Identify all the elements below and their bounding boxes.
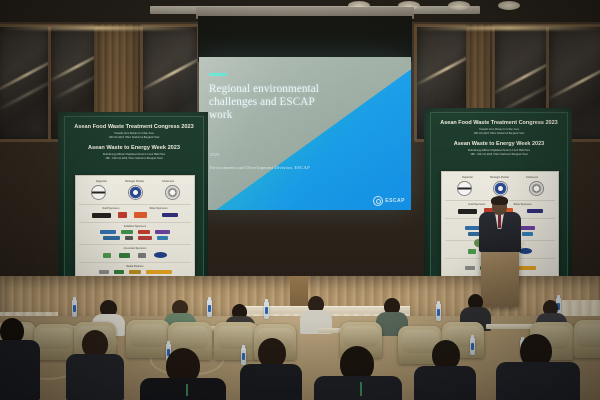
strategic-partner-logo [493, 181, 508, 196]
water-bottle [72, 300, 77, 317]
attendee-body [496, 362, 580, 400]
escap-logo-text: ESCAP [385, 198, 405, 204]
poster-caption: Gold Sponsors [102, 207, 119, 210]
wall-glass-panel [0, 24, 52, 142]
poster-caption: Associate Sponsors [124, 247, 147, 250]
poster-caption: Silver Sponsors [149, 207, 167, 210]
exhibitor-logo [100, 230, 116, 234]
attendee-body [66, 354, 124, 400]
exhibitor-logo [138, 230, 150, 234]
slide-title: Regional environmental challenges and ES… [209, 83, 339, 123]
exhibitor-logo [138, 236, 152, 240]
poster-caption: Silver Sponsors [513, 203, 531, 206]
banner-date-secondary: 18th - 19th Oct,2023, Hilton Sukhumvit B… [431, 153, 567, 156]
organizer-logo [91, 185, 106, 200]
projection-screen: Regional environmental challenges and ES… [199, 57, 411, 210]
poster-caption: Endorsers [526, 176, 538, 179]
exhibitor-logo [121, 230, 133, 234]
poster-caption: Organizer [96, 180, 107, 183]
exhibitor-logo [155, 230, 170, 234]
attendee-body [0, 340, 40, 400]
chair [126, 320, 170, 358]
cove-light [0, 26, 196, 30]
water-bottle [241, 348, 246, 365]
banner-heading-secondary: Asean Waste to Energy Week 2023 [65, 145, 203, 151]
chair [574, 320, 600, 358]
slide-year: 2023 [210, 152, 220, 157]
exhibitor-logo [103, 236, 120, 240]
poster-divider [79, 222, 191, 223]
banner-heading-secondary: Asean Waste to Energy Week 2023 [431, 141, 567, 147]
sponsor-logo [118, 212, 127, 218]
banner-subtitle-primary: Towards Zero Waste for Urban Area [65, 132, 203, 135]
banner-heading-primary: Asean Food Waste Treatment Congress 2023 [431, 120, 567, 126]
attendee-body [414, 366, 476, 400]
poster-caption: Strategic Partner [125, 180, 144, 183]
banner-date-primary: 18th Oct,2023, Hilton Sukhumvit Bangkok … [431, 132, 567, 135]
associate-logo [103, 253, 111, 258]
banner-date-primary: 18th Oct,2023, Hilton Sukhumvit Bangkok … [65, 136, 203, 139]
chair [214, 322, 258, 360]
sponsor-logo [92, 213, 111, 218]
banner-subtitle-primary: Towards Zero Waste for Urban Area [431, 128, 567, 131]
podium [481, 245, 519, 307]
slide-accent-dash [209, 73, 227, 76]
poster-caption: Exhibitor Sponsors [124, 225, 146, 228]
attendee-body [240, 364, 302, 400]
sponsor-logo [134, 212, 147, 218]
banner-date-secondary: 18th - 19th Oct,2023, Hilton Sukhumvit B… [65, 157, 203, 160]
media-partner-logo [129, 270, 141, 274]
strategic-partner-logo [128, 185, 143, 200]
sponsor-logo [458, 209, 477, 214]
water-bottle [436, 304, 441, 321]
attendee-desk [486, 324, 534, 329]
organizer-logo [457, 181, 472, 196]
media-partner-logo [146, 270, 172, 274]
poster-caption: Organizer [462, 176, 473, 179]
lanyard [360, 382, 362, 396]
exhibitor-logo [125, 236, 133, 240]
water-bottle [470, 338, 475, 355]
cove-light [414, 26, 600, 30]
escap-logo: ESCAP [373, 196, 405, 206]
exhibitor-logo [157, 236, 168, 240]
endorser-logo [165, 185, 180, 200]
media-partner-logo [99, 270, 109, 274]
attendee-body [140, 378, 226, 400]
speaker-tie [498, 215, 501, 228]
attendee-body [314, 376, 402, 400]
exhibitor-logo [520, 226, 535, 230]
poster-caption: Gold Sponsors [468, 203, 485, 206]
poster-caption: Endorsers [162, 180, 174, 183]
ceiling-light [498, 1, 520, 10]
sponsor-logo [162, 213, 178, 217]
poster-divider [79, 244, 191, 245]
associate-logo [138, 253, 146, 258]
media-partner-logo [114, 270, 124, 274]
banner-heading-primary: Asean Food Waste Treatment Congress 2023 [65, 124, 203, 130]
slide-department: Environment and Development Division, ES… [210, 165, 310, 170]
poster-caption: Media Partners [126, 265, 143, 268]
associate-logo [119, 253, 130, 258]
endorser-logo [529, 181, 544, 196]
media-partner-logo [465, 266, 475, 270]
escap-emblem-icon [373, 196, 383, 206]
associate-logo [154, 252, 167, 258]
conference-hall-photo: Regional environmental challenges and ES… [0, 0, 600, 400]
water-bottle [207, 300, 212, 317]
screen-dark-border [198, 16, 412, 62]
banner-subtitle-secondary: Build Energy Efficient Digitalised Smart… [431, 149, 567, 152]
ceiling-light [448, 1, 470, 10]
banner-subtitle-secondary: Build Energy Efficient Digitalised Smart… [65, 153, 203, 156]
poster-divider [79, 262, 191, 263]
speaker-hair [491, 196, 508, 205]
poster-divider [79, 204, 191, 205]
sponsor-logo [527, 209, 543, 213]
water-bottle [264, 302, 269, 319]
poster-caption: Strategic Partner [490, 176, 509, 179]
lanyard [186, 384, 188, 396]
